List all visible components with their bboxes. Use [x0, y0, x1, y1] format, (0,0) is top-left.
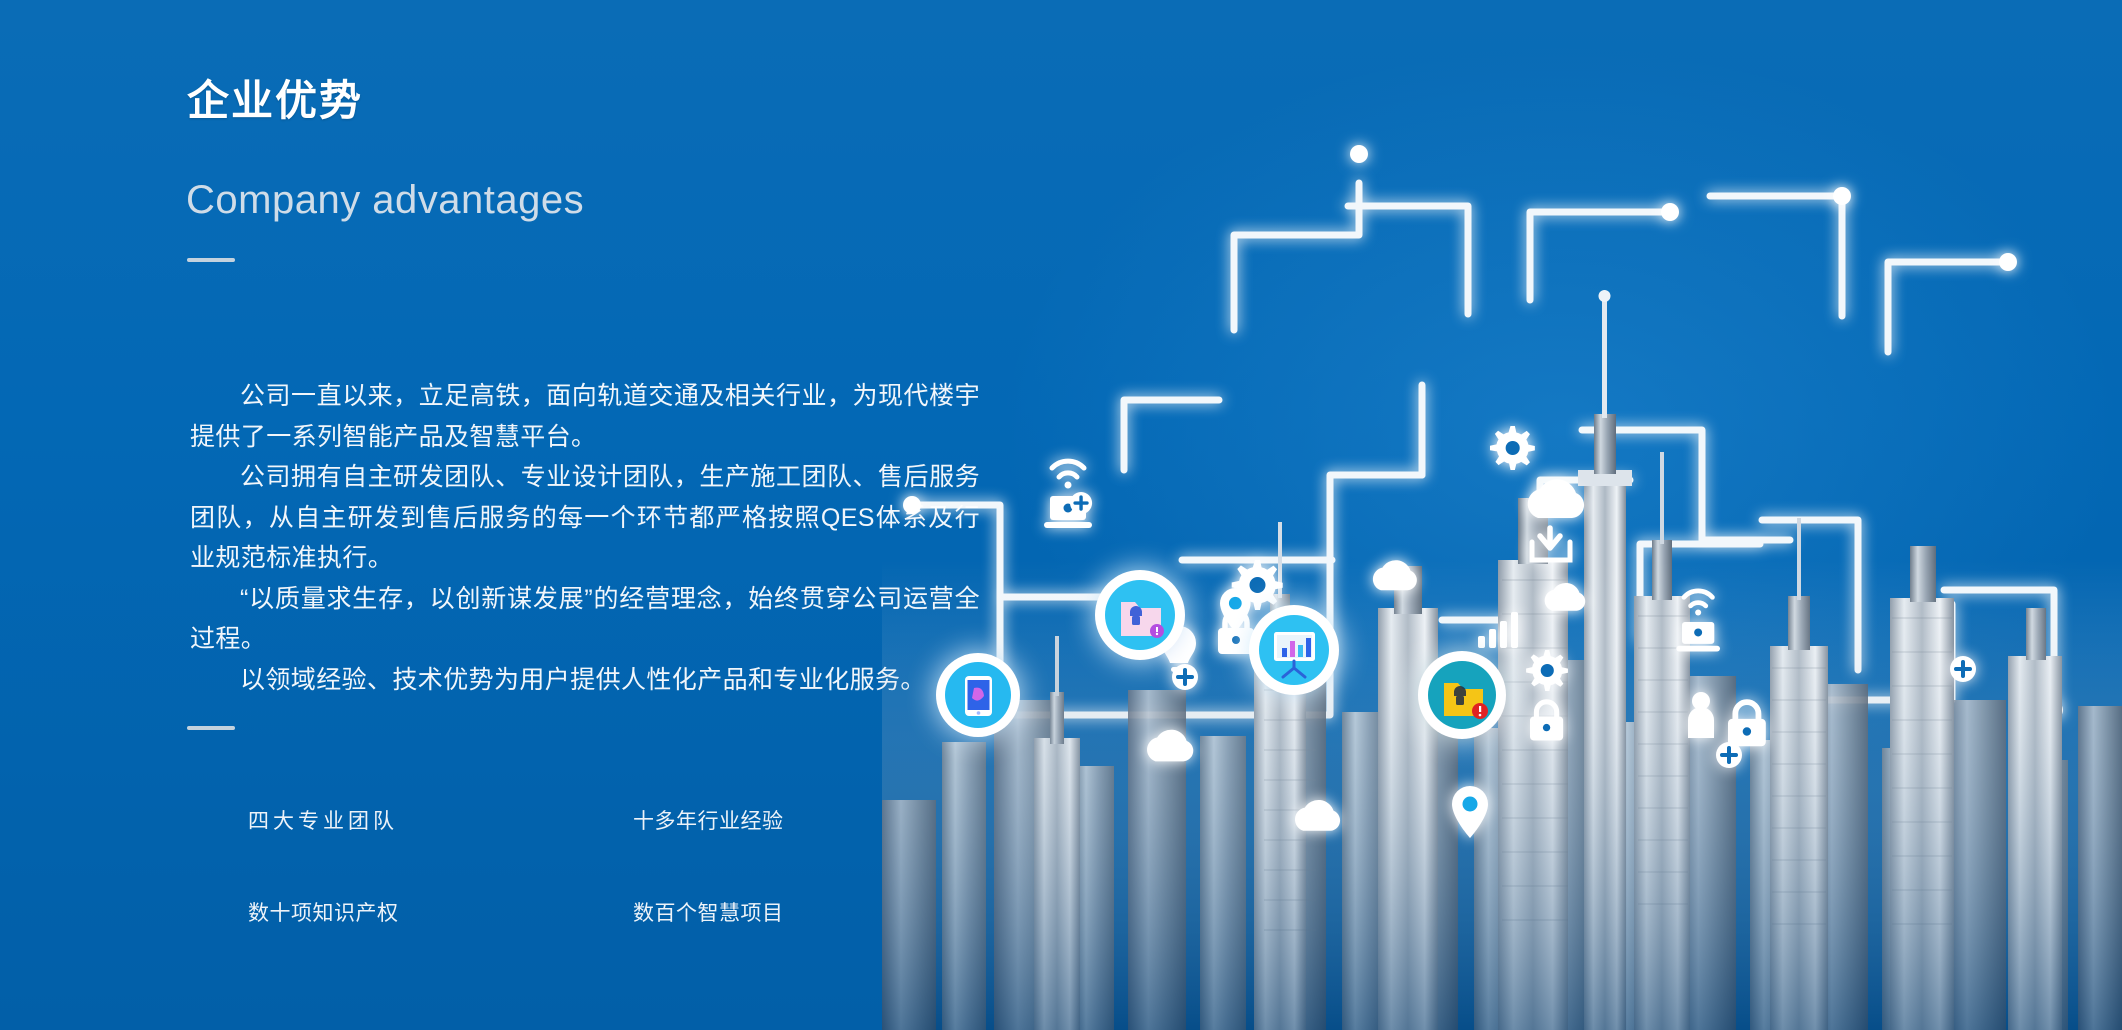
stat-projects: 数百个智慧项目	[633, 897, 848, 927]
paragraph: 公司拥有自主研发团队、专业设计团队，生产施工团队、售后服务团队，从自主研发到售后…	[190, 457, 980, 579]
divider-mid	[187, 726, 235, 730]
plus-node-icon	[1172, 664, 1198, 690]
stat-teams: 四大专业团队	[248, 805, 463, 835]
page-title-en: Company advantages	[186, 178, 584, 222]
folder-lock-yellow-icon	[1418, 651, 1506, 739]
folder-lock-blue-icon	[1095, 570, 1185, 660]
plus-node-icon	[1716, 742, 1742, 768]
chart-board-icon	[1249, 605, 1339, 695]
page-title-cn: 企业优势	[187, 78, 363, 124]
plus-node-icon	[1070, 492, 1092, 514]
body-copy: 公司一直以来，立足高铁，面向轨道交通及相关行业，为现代楼宇提供了一系列智能产品及…	[190, 376, 980, 700]
paragraph: 以领域经验、技术优势为用户提供人性化产品和专业化服务。	[190, 660, 980, 701]
page-root: 企业优势 Company advantages 公司一直以来，立足高铁，面向轨道…	[0, 0, 2122, 1030]
mobile-phone-icon	[936, 653, 1020, 737]
city-skyline	[882, 290, 2122, 1030]
hero-illustration: 我们的优势 OUR ADVANTAGES	[882, 0, 2122, 1030]
stat-ip: 数十项知识产权	[248, 897, 463, 927]
paragraph: “以质量求生存，以创新谋发展”的经营理念，始终贯穿公司运营全过程。	[190, 579, 980, 660]
stat-experience: 十多年行业经验	[633, 805, 848, 835]
plus-node-icon	[1950, 656, 1976, 682]
gear-icon	[1490, 426, 1535, 470]
divider-top	[187, 258, 235, 262]
paragraph: 公司一直以来，立足高铁，面向轨道交通及相关行业，为现代楼宇提供了一系列智能产品及…	[190, 376, 980, 457]
text-column: 企业优势 Company advantages 公司一直以来，立足高铁，面向轨道…	[0, 0, 1000, 1030]
stats-grid: 四大专业团队 十多年行业经验 数十项知识产权 数百个智慧项目	[248, 805, 848, 927]
